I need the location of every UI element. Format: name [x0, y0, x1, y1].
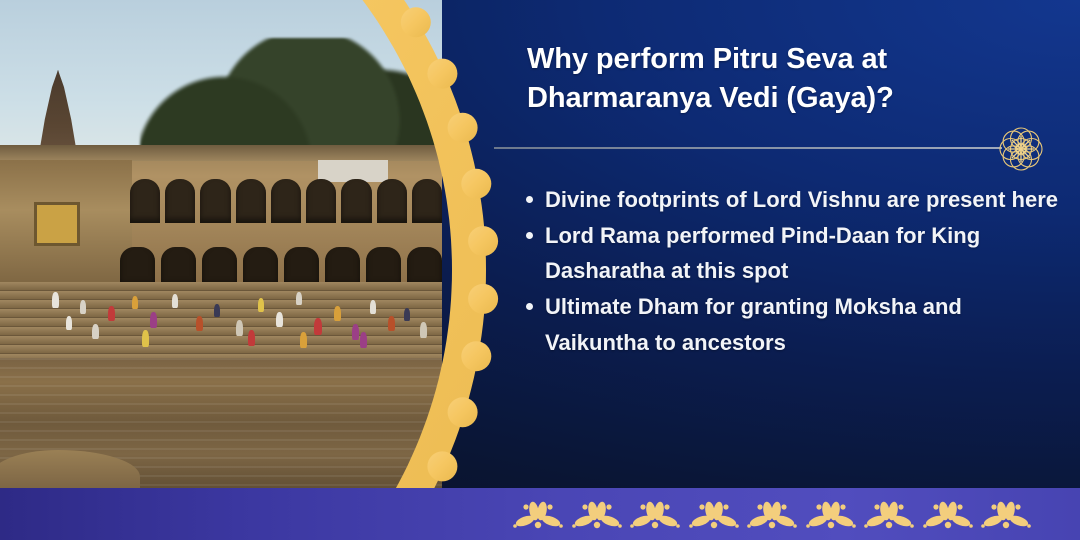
upper-arcade: [130, 175, 442, 223]
list-item-label: Ultimate Dham for granting Moksha and Va…: [545, 289, 1062, 360]
slide-canvas: Why perform Pitru Seva at Dharmaranya Ve…: [0, 0, 1080, 540]
arch: [306, 179, 336, 223]
arc-scallop: [448, 113, 478, 143]
arc-scallop: [448, 397, 478, 427]
pilgrim-figure: [388, 316, 395, 331]
lotus-floral-motif-icon: [980, 497, 1032, 531]
arc-scallop: [461, 341, 491, 371]
arch: [284, 247, 319, 287]
left-wall: [0, 160, 132, 285]
arch: [200, 179, 230, 223]
arch: [325, 247, 360, 287]
arch: [341, 179, 371, 223]
lotus-floral-motif-icon: [746, 497, 798, 531]
bottom-ornamental-band: [0, 488, 1080, 540]
arch: [243, 247, 278, 287]
lower-arcade: [120, 243, 442, 287]
arch: [165, 179, 195, 223]
divider-rule: [494, 147, 1002, 149]
lotus-floral-motif-icon: [805, 497, 857, 531]
arch: [366, 247, 401, 287]
arch: [412, 179, 442, 223]
pilgrim-figure: [420, 322, 427, 338]
lotus-floral-motif-icon: [688, 497, 740, 531]
lotus-floral-motif-icon: [571, 497, 623, 531]
arch: [120, 247, 155, 287]
building-cornice: [0, 145, 442, 161]
pilgrim-figure: [142, 330, 149, 347]
arch: [202, 247, 237, 287]
pilgrim-figure: [248, 330, 255, 346]
bullet-dot-icon: [526, 303, 533, 310]
pilgrim-figure: [92, 324, 99, 339]
pilgrim-figure: [80, 300, 86, 314]
pilgrim-figure: [214, 304, 220, 317]
pilgrim-figure: [236, 320, 243, 336]
content-panel: Why perform Pitru Seva at Dharmaranya Ve…: [492, 0, 1080, 488]
pilgrims: [0, 286, 442, 358]
pilgrim-figure: [352, 324, 359, 340]
pilgrim-figure: [196, 316, 203, 331]
pilgrim-figure: [334, 306, 341, 321]
list-item: Divine footprints of Lord Vishnu are pre…: [526, 182, 1062, 218]
list-item: Lord Rama performed Pind-Daan for King D…: [526, 218, 1062, 289]
list-item: Ultimate Dham for granting Moksha and Va…: [526, 289, 1062, 360]
pilgrim-figure: [370, 300, 376, 314]
arch: [407, 247, 442, 287]
pilgrim-figure: [360, 332, 367, 348]
pilgrim-figure: [132, 296, 138, 309]
pilgrim-figure: [172, 294, 178, 308]
lotus-floral-motif-icon: [922, 497, 974, 531]
pilgrim-figure: [314, 318, 322, 335]
rosette-mandala-icon: [990, 118, 1052, 180]
pilgrim-figure: [276, 312, 283, 327]
arc-scallop: [461, 169, 491, 199]
pilgrim-figure: [66, 316, 72, 330]
pilgrim-figure: [258, 298, 264, 312]
pilgrim-figure: [404, 308, 410, 321]
page-title: Why perform Pitru Seva at Dharmaranya Ve…: [527, 40, 997, 118]
pilgrim-figure: [52, 292, 59, 308]
lotus-floral-motif-icon: [512, 497, 564, 531]
arch: [236, 179, 266, 223]
list-item-label: Divine footprints of Lord Vishnu are pre…: [545, 182, 1062, 218]
pilgrim-figure: [150, 312, 157, 328]
pilgrim-figure: [108, 306, 115, 321]
band-motif-row: [512, 488, 1032, 540]
pilgrim-figure: [296, 292, 302, 305]
lotus-floral-motif-icon: [863, 497, 915, 531]
arch: [377, 179, 407, 223]
lotus-floral-motif-icon: [629, 497, 681, 531]
arch: [271, 179, 301, 223]
list-item-label: Lord Rama performed Pind-Daan for King D…: [545, 218, 1062, 289]
arch: [161, 247, 196, 287]
bullet-dot-icon: [526, 232, 533, 239]
pilgrim-figure: [300, 332, 307, 348]
bullet-list: Divine footprints of Lord Vishnu are pre…: [526, 182, 1062, 360]
bullet-dot-icon: [526, 196, 533, 203]
ghat-photograph: [0, 0, 442, 492]
arch: [130, 179, 160, 223]
